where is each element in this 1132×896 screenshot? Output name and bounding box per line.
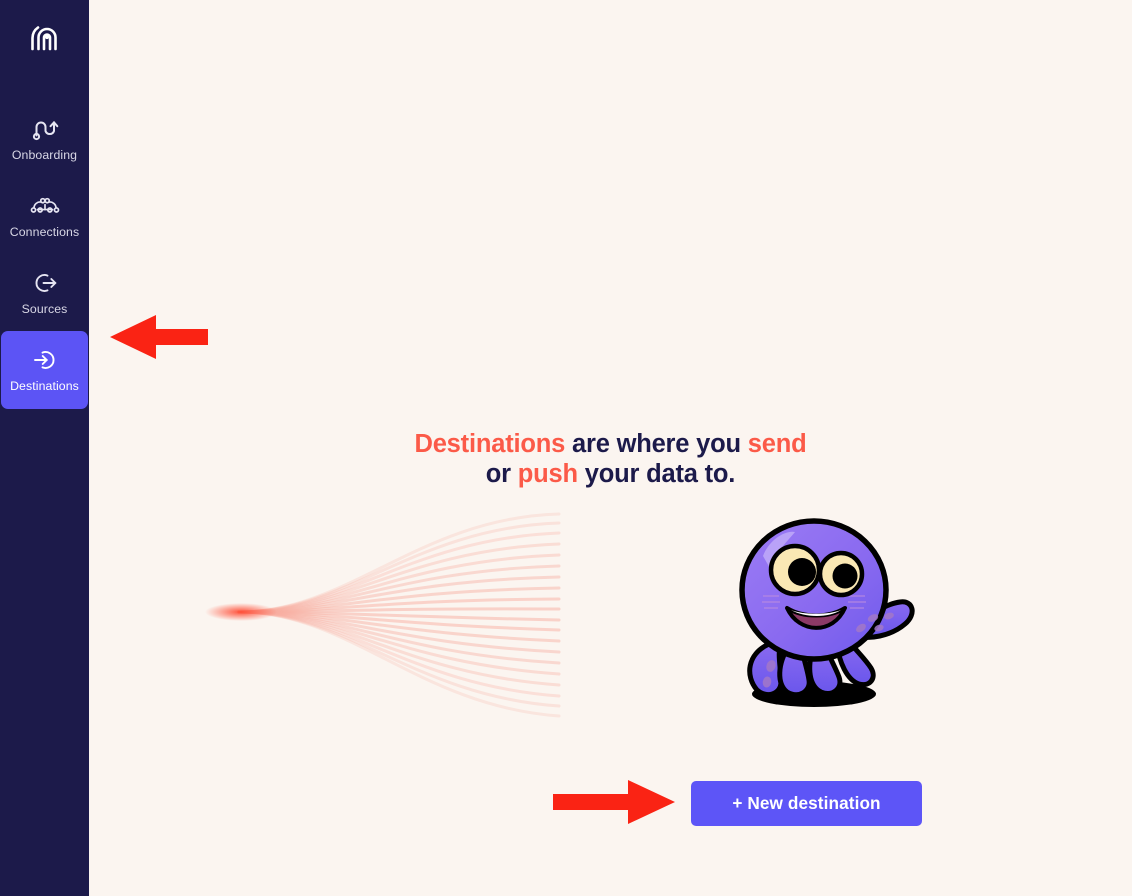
octopus-mascot — [742, 521, 912, 707]
data-rays — [239, 514, 559, 716]
right-pupil — [833, 563, 858, 588]
nodes-network-icon — [30, 193, 60, 219]
empty-state-hero: Destinations are where you send or push … — [89, 430, 1132, 727]
headline-text-2: or — [486, 460, 518, 488]
mascot-head — [742, 521, 886, 659]
sidebar-item-connections[interactable]: Connections — [1, 177, 88, 255]
node-dot — [31, 208, 35, 212]
headline-text-1: are where you — [565, 430, 748, 458]
main-content: Destinations are where you send or push … — [89, 0, 1132, 896]
octopus-mascot-with-data-rays-svg — [89, 512, 1132, 727]
node-dot — [40, 199, 44, 203]
page-title: Destinations are where you send or push … — [414, 430, 806, 490]
sidebar-item-label: Destinations — [10, 380, 79, 392]
logo-dot — [44, 35, 48, 39]
left-pupil — [788, 558, 816, 586]
sidebar-item-onboarding[interactable]: Onboarding — [1, 100, 88, 178]
node-dot — [54, 208, 58, 212]
circle-arrow-in-icon — [30, 347, 60, 373]
circle-arrow-out-icon — [30, 270, 60, 296]
sidebar-item-sources[interactable]: Sources — [1, 254, 88, 332]
sidebar-item-label: Sources — [22, 303, 68, 315]
headline-accent-destinations: Destinations — [414, 430, 565, 458]
headline-accent-send: send — [748, 430, 807, 458]
rudderstack-logo-icon — [25, 17, 65, 57]
headline-accent-push: push — [518, 460, 578, 488]
sidebar-item-destinations[interactable]: Destinations — [1, 331, 88, 409]
sidebar-nav: Onboarding Connect — [0, 74, 89, 409]
ray-origin-glow — [205, 603, 277, 621]
headline-text-3: your data to. — [578, 460, 735, 488]
winding-path-arrow-icon — [30, 116, 60, 142]
sidebar-item-label: Onboarding — [12, 149, 77, 161]
app-logo[interactable] — [0, 0, 89, 74]
new-destination-button[interactable]: + New destination — [691, 781, 922, 826]
illustration — [89, 512, 1132, 727]
cta-row: + New destination — [89, 781, 1132, 826]
sidebar-item-label: Connections — [10, 226, 79, 238]
node-dot — [45, 199, 49, 203]
sidebar: Onboarding Connect — [0, 0, 89, 896]
